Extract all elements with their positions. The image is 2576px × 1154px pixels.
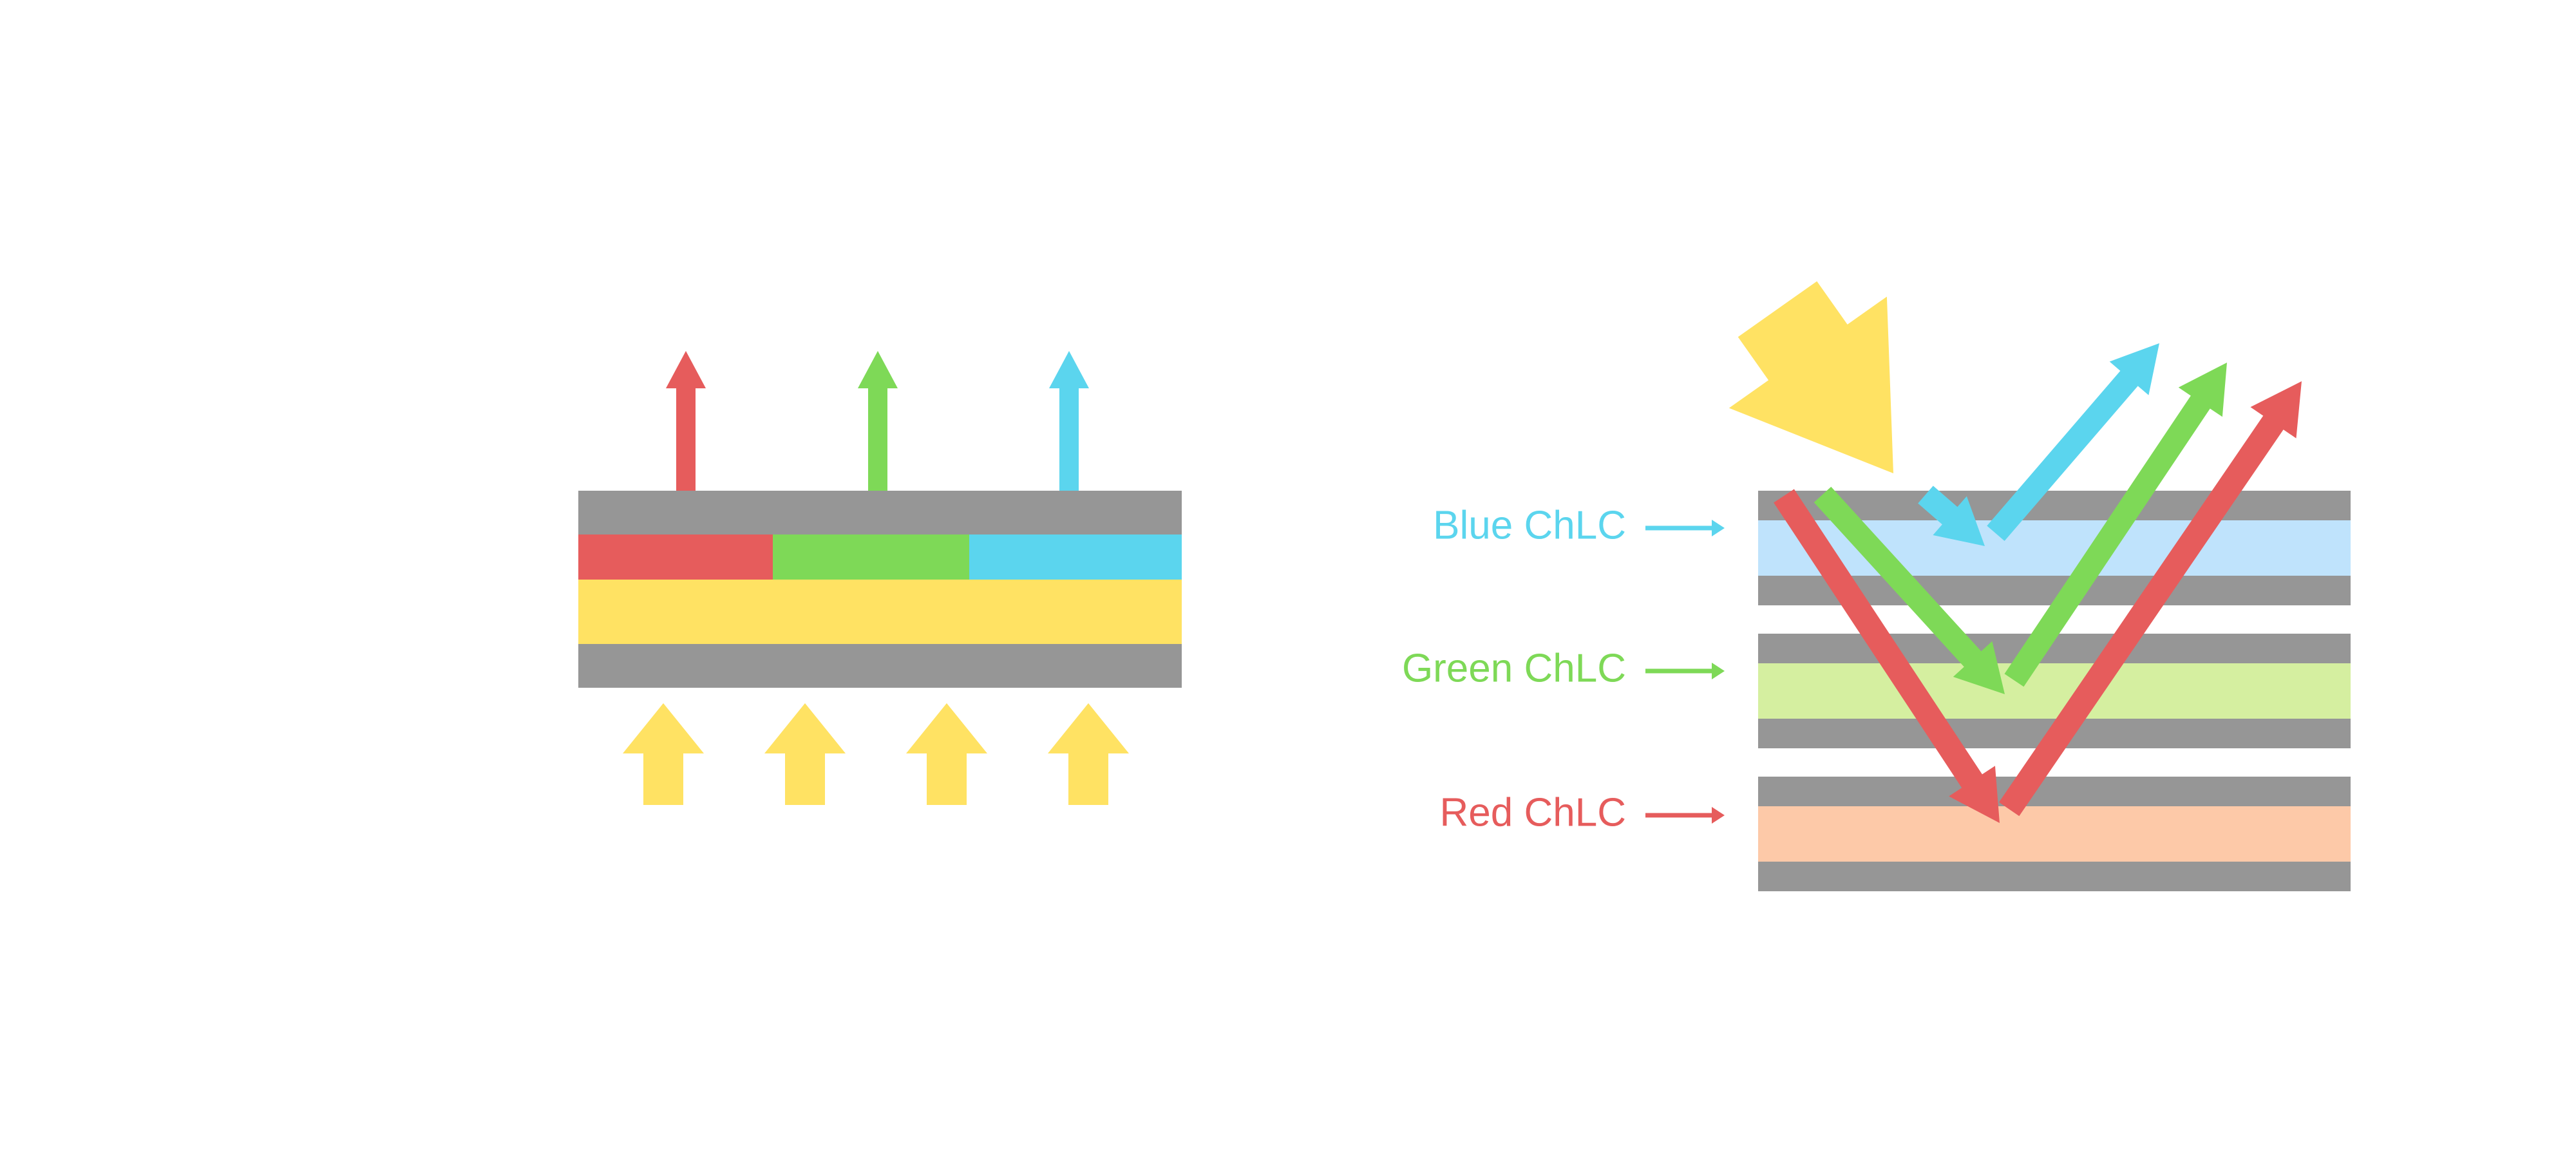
top-electrode	[578, 491, 1182, 534]
green-chlc-label-text: Green ChLC	[1402, 646, 1626, 690]
backlight-arrow-3	[906, 703, 987, 805]
bottom-electrode	[578, 644, 1182, 688]
left-stack-layers	[578, 491, 1182, 688]
electrode-6	[1758, 862, 2351, 891]
right-chlc-labels: Blue ChLCGreen ChLCRed ChLC	[1402, 503, 1725, 835]
red-chlc-label: Red ChLC	[1440, 790, 1725, 835]
green-chlc-layer	[1758, 663, 2351, 719]
incident-beam-group	[1729, 281, 1893, 473]
electrode-5	[1758, 777, 2351, 806]
cyan-filter-segment	[969, 534, 1182, 580]
backlight-layer	[578, 580, 1182, 644]
left-panel	[578, 351, 1182, 805]
right-panel: Blue ChLCGreen ChLCRed ChLC	[1402, 281, 2351, 891]
backlight-arrow-4	[1048, 703, 1129, 805]
blue-chlc-label: Blue ChLC	[1433, 503, 1725, 547]
blue-chlc-label-text: Blue ChLC	[1433, 503, 1626, 547]
red-chlc-label-text: Red ChLC	[1440, 790, 1626, 835]
blue-chlc-label-pointer-head	[1712, 520, 1725, 536]
backlight-arrow-1	[623, 703, 704, 805]
backlight-arrow-2	[764, 703, 846, 805]
diagram-canvas: Blue ChLCGreen ChLCRed ChLC	[0, 0, 2576, 1154]
red-chlc-layer	[1758, 806, 2351, 862]
green-filter-segment	[773, 534, 969, 580]
green-chlc-label: Green ChLC	[1402, 646, 1725, 690]
chlc-display-diagram: Blue ChLCGreen ChLCRed ChLC	[0, 0, 2576, 1154]
white-light-incident-arrow	[1729, 281, 1893, 473]
red-chlc-label-pointer-head	[1712, 807, 1725, 824]
left-backlight-arrows	[623, 703, 1129, 805]
right-stack-layers	[1758, 491, 2351, 891]
red-filter-segment	[578, 534, 773, 580]
green-chlc-label-pointer-head	[1712, 663, 1725, 679]
